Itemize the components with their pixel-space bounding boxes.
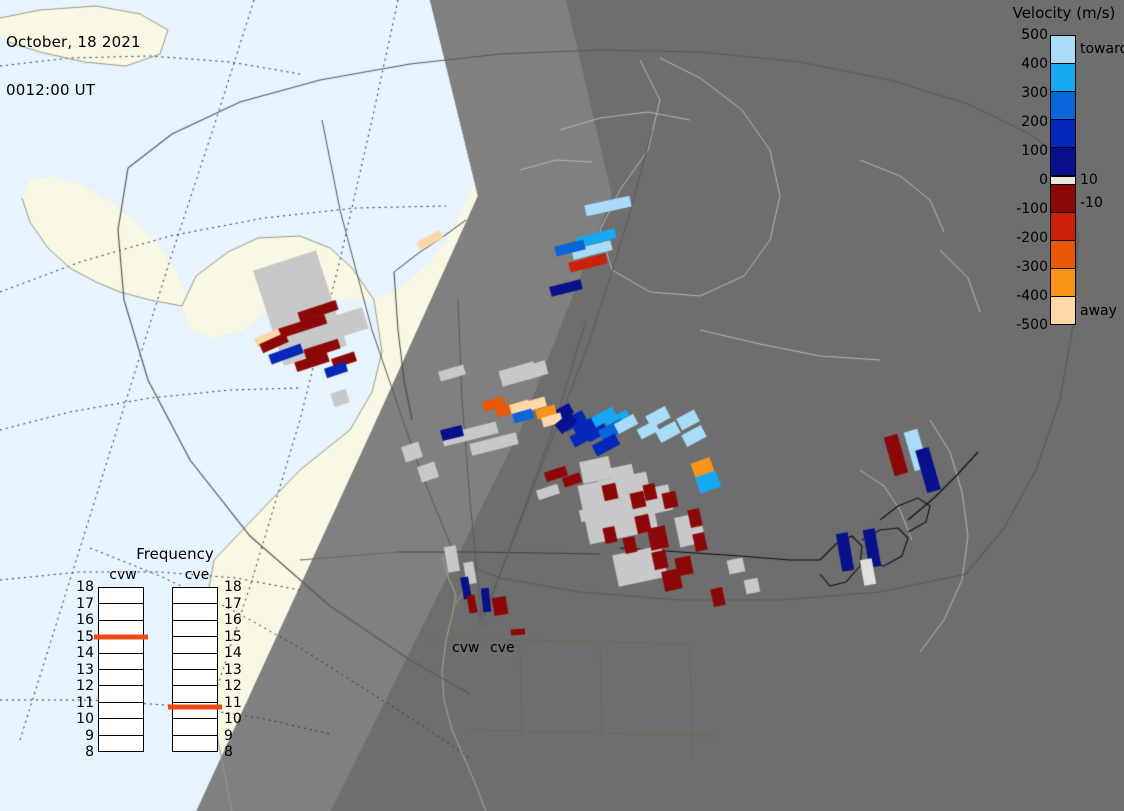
colorbar-strip (1050, 35, 1076, 325)
colorbar-band-10 (1051, 297, 1075, 324)
frequency-tick-cve-17: 17 (224, 596, 242, 612)
frequency-row (99, 604, 143, 620)
frequency-row (173, 736, 217, 751)
frequency-tick-cve-11: 11 (224, 695, 242, 711)
colorbar-tick-400: 400 (1021, 56, 1048, 72)
frequency-scale-cvw (98, 587, 144, 752)
colorbar-band-8 (1051, 241, 1075, 269)
radar-site-marker (477, 617, 488, 628)
frequency-tick-cvw-15: 15 (68, 629, 94, 645)
frequency-column-label-cve: cve (172, 567, 222, 583)
frequency-tick-cvw-8: 8 (68, 744, 94, 760)
colorbar-tick-100: 100 (1021, 143, 1048, 159)
frequency-row (99, 719, 143, 735)
colorbar-band-9 (1051, 269, 1075, 297)
colorbar-band-2 (1051, 92, 1075, 120)
colorbar-title: Velocity (m/s) (1002, 4, 1124, 22)
frequency-scale-cve (172, 587, 218, 752)
colorbar-tick-neg200: -200 (1016, 230, 1048, 246)
frequency-tick-cvw-13: 13 (68, 662, 94, 678)
colorbar-tick-neg400: -400 (1016, 288, 1048, 304)
frequency-tick-cvw-18: 18 (68, 579, 94, 595)
radar-site-label-cvw: cvw (452, 640, 479, 656)
frequency-tick-cve-9: 9 (224, 728, 233, 744)
colorbar-tick-200: 200 (1021, 114, 1048, 130)
frequency-row (173, 686, 217, 702)
colorbar-band-1 (1051, 64, 1075, 92)
frequency-tick-cve-18: 18 (224, 579, 242, 595)
frequency-tick-cve-12: 12 (224, 678, 242, 694)
frequency-row (99, 588, 143, 604)
frequency-row (173, 654, 217, 670)
frequency-marker-cve (168, 704, 222, 709)
frequency-tick-cve-16: 16 (224, 612, 242, 628)
colorbar-tick-neg300: -300 (1016, 259, 1048, 275)
frequency-tick-cvw-11: 11 (68, 695, 94, 711)
frequency-title: Frequency (80, 545, 270, 563)
frequency-row (173, 588, 217, 604)
radar-map-figure: October, 18 2021 0012:00 UT Velocity (m/… (0, 0, 1124, 811)
frequency-tick-cve-13: 13 (224, 662, 242, 678)
frequency-row (99, 686, 143, 702)
frequency-tick-cve-8: 8 (224, 744, 233, 760)
colorbar-tick-0: 0 (1039, 172, 1048, 188)
frequency-row (173, 637, 217, 653)
colorbar-band-4 (1051, 148, 1075, 176)
frequency-tick-cvw-14: 14 (68, 645, 94, 661)
frequency-tick-cve-10: 10 (224, 711, 242, 727)
colorbar-tick-neg100: -100 (1016, 201, 1048, 217)
frequency-row (99, 736, 143, 751)
colorbar-band-3 (1051, 120, 1075, 148)
frequency-column-label-cvw: cvw (98, 567, 148, 583)
colorbar-band-7 (1051, 213, 1075, 241)
radar-site-label-cve: cve (490, 640, 515, 656)
frequency-row (99, 637, 143, 653)
frequency-legend: Frequency cvw18171615141312111098cve1817… (80, 545, 270, 800)
colorbar-band-0 (1051, 36, 1075, 64)
colorbar-toward-label: toward (1080, 41, 1124, 57)
frequency-tick-cvw-10: 10 (68, 711, 94, 727)
timestamp-block: October, 18 2021 0012:00 UT (6, 2, 141, 130)
colorbar-neg-threshold-label: -10 (1080, 195, 1103, 211)
colorbar-pos-threshold-label: 10 (1080, 172, 1098, 188)
frequency-tick-cvw-9: 9 (68, 728, 94, 744)
frequency-tick-cve-15: 15 (224, 629, 242, 645)
frequency-tick-cvw-17: 17 (68, 596, 94, 612)
frequency-row (173, 670, 217, 686)
date-text: October, 18 2021 (6, 34, 141, 50)
frequency-row (173, 621, 217, 637)
frequency-tick-cve-14: 14 (224, 645, 242, 661)
colorbar-band-5 (1051, 176, 1075, 185)
frequency-row (99, 670, 143, 686)
frequency-row (99, 654, 143, 670)
frequency-row (99, 703, 143, 719)
frequency-tick-cvw-12: 12 (68, 678, 94, 694)
colorbar-away-label: away (1080, 303, 1117, 319)
colorbar-band-6 (1051, 185, 1075, 213)
frequency-row (173, 604, 217, 620)
time-text: 0012:00 UT (6, 82, 141, 98)
velocity-colorbar: Velocity (m/s) 5004003002001000-100-200-… (1004, 0, 1124, 340)
frequency-row (173, 719, 217, 735)
frequency-marker-cvw (94, 634, 148, 639)
frequency-tick-cvw-16: 16 (68, 612, 94, 628)
colorbar-tick-500: 500 (1021, 27, 1048, 43)
colorbar-tick-neg500: -500 (1016, 317, 1048, 333)
colorbar-tick-300: 300 (1021, 85, 1048, 101)
